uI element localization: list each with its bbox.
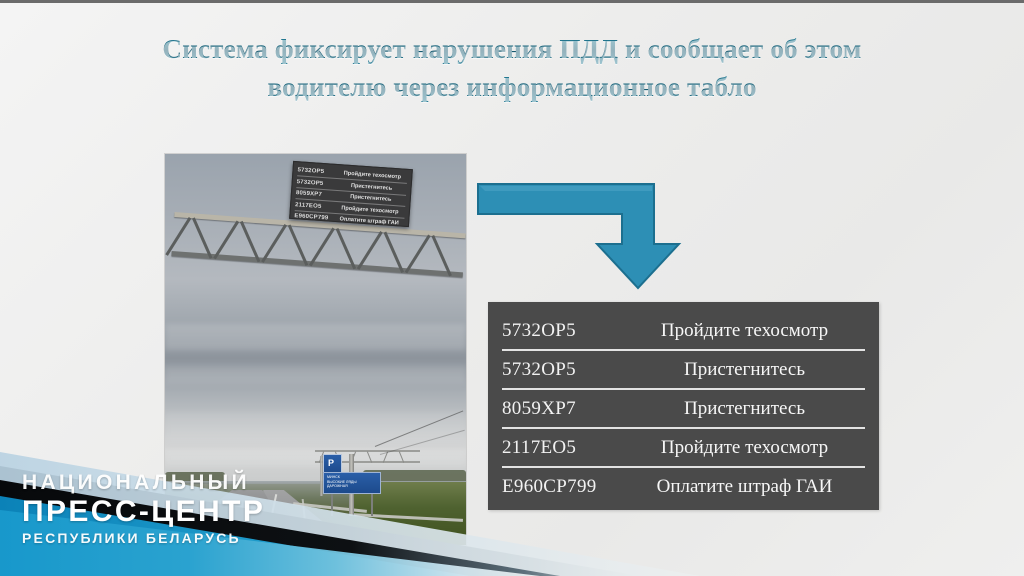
table-cell-plate: 2117EO5 [502, 437, 624, 459]
top-edge-bar [0, 0, 1024, 3]
led-message: Пройдите техосмотр [335, 205, 405, 216]
cloud-band [165, 324, 466, 350]
table-row: 5732OP5 Пройдите техосмотр [502, 312, 865, 351]
table-cell-message: Оплатите штраф ГАИ [624, 476, 865, 498]
table-row: 5732OP5 Пристегнитесь [502, 351, 865, 390]
violation-message-table: 5732OP5 Пройдите техосмотр 5732OP5 Прист… [488, 302, 879, 510]
watermark-line-1: НАЦИОНАЛЬНЫЙ [22, 470, 352, 495]
led-message: Пройдите техосмотр [337, 170, 407, 181]
table-cell-plate: 8059XP7 [502, 398, 624, 420]
table-cell-message: Пройдите техосмотр [624, 437, 865, 459]
table-row: E960CP799 Оплатите штраф ГАИ [502, 468, 865, 505]
title-line-2: водителю через информационное табло [0, 68, 1024, 106]
watermark-line-2: ПРЕСС-ЦЕНТР [22, 495, 352, 528]
led-plate: 8059XP7 [296, 190, 336, 199]
press-center-watermark: НАЦИОНАЛЬНЫЙ ПРЕСС-ЦЕНТР РЕСПУБЛИКИ БЕЛА… [22, 470, 352, 548]
table-cell-plate: E960CP799 [502, 476, 624, 498]
table-row: 2117EO5 Пройдите техосмотр [502, 429, 865, 468]
table-cell-message: Пристегнитесь [624, 359, 865, 381]
table-cell-message: Пристегнитесь [624, 398, 865, 420]
led-information-board: 5732OP5 Пройдите техосмотр 5732OP5 Прист… [289, 161, 413, 227]
presentation-slide: Система фиксирует нарушения ПДД и сообща… [0, 0, 1024, 576]
led-message: Пристегнитесь [336, 193, 406, 204]
title-line-1: Система фиксирует нарушения ПДД и сообща… [0, 30, 1024, 68]
table-cell-message: Пройдите техосмотр [624, 320, 865, 342]
led-plate: 5732OP5 [297, 179, 337, 188]
led-plate: 5732OP5 [297, 167, 337, 176]
watermark-line-3: РЕСПУБЛИКИ БЕЛАРУСЬ [22, 528, 352, 548]
table-row: 8059XP7 Пристегнитесь [502, 390, 865, 429]
table-cell-plate: 5732OP5 [502, 320, 624, 342]
table-cell-plate: 5732OP5 [502, 359, 624, 381]
cloud-band [165, 366, 466, 384]
led-plate: 2117EO5 [295, 202, 335, 211]
sign-pole [371, 494, 373, 516]
slide-title: Система фиксирует нарушения ПДД и сообща… [0, 30, 1024, 106]
bent-arrow-right-down-icon [476, 182, 696, 290]
led-message: Пристегнитесь [336, 182, 406, 193]
